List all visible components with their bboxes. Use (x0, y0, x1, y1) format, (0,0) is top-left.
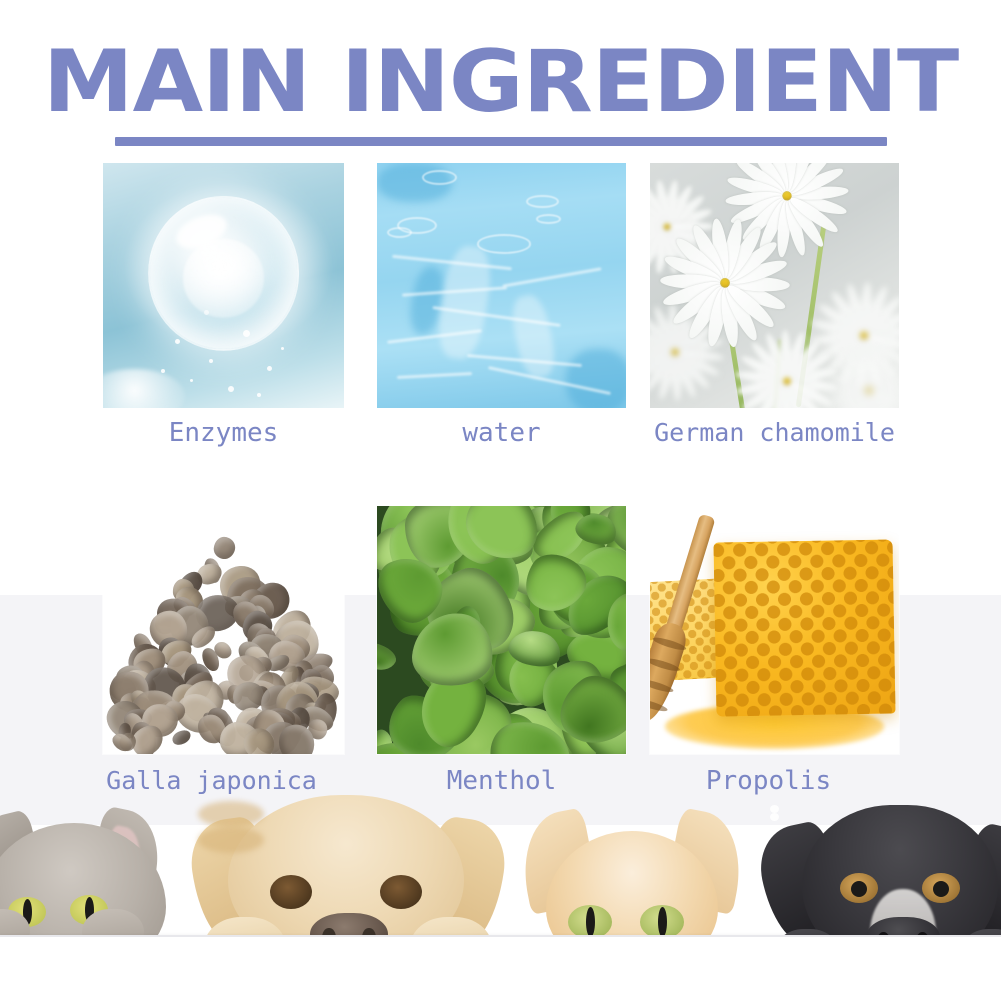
ingredient-card-menthol[interactable]: Menthol (377, 506, 626, 796)
ingredient-poster: MAIN INGREDIENT (0, 0, 1001, 1001)
ingredient-card-german-chamomile[interactable]: German chamomile (650, 163, 899, 448)
water-shadow (566, 349, 626, 408)
chamomile-flowers-art (650, 163, 899, 408)
ingredient-label-water: water (377, 418, 626, 448)
ripple-icon (477, 234, 532, 254)
daisy-icon (660, 227, 789, 325)
cat-pupil-left (586, 907, 595, 937)
ingredient-card-propolis[interactable]: Propolis (650, 506, 899, 796)
droplet-icon (175, 339, 180, 344)
water-surface-art (377, 163, 626, 408)
title-underline-rule (115, 137, 887, 146)
white-ledge (0, 935, 1001, 1001)
droplet-icon (257, 393, 261, 397)
wave-line (502, 267, 601, 287)
ingredient-card-galla-japonica[interactable]: Galla japonica (103, 506, 344, 796)
menthol-image (377, 506, 626, 754)
hex-cells (713, 539, 895, 716)
droplet-icon (209, 359, 213, 363)
dog-eye-glint-left (770, 805, 779, 813)
ingredient-grid: Enzymes (103, 163, 899, 796)
dipper-groove (650, 696, 669, 713)
ingredient-card-water[interactable]: water (377, 163, 626, 448)
galla-nuts-art (103, 506, 344, 754)
droplet-icon (281, 347, 284, 350)
gall-nut-piece (212, 535, 238, 562)
droplet-icon (243, 330, 250, 337)
dipper-groove (652, 635, 687, 652)
title-block: MAIN INGREDIENT (0, 42, 1001, 146)
honeycomb-art (650, 506, 899, 754)
enzyme-bubble-art (103, 163, 344, 408)
galla-japonica-image (103, 506, 344, 754)
ripple-icon (422, 170, 457, 185)
droplet-icon (228, 386, 234, 392)
nut-pile (113, 526, 335, 744)
ripple-icon (387, 227, 412, 238)
mint-leaf (377, 636, 400, 676)
bubble-core-icon (183, 239, 265, 317)
ingredient-card-enzymes[interactable]: Enzymes (103, 163, 344, 448)
enzymes-image (103, 163, 344, 408)
daisy-icon (735, 339, 840, 408)
dog-eye-left (270, 875, 312, 909)
honeycomb-main-slab (713, 539, 895, 716)
ingredient-row-1: Enzymes (103, 163, 899, 448)
dog-eye-glint-right (770, 813, 779, 821)
water-streak (508, 293, 559, 382)
dog-brow-left (198, 801, 264, 827)
wave-line (397, 372, 472, 379)
ripple-icon (526, 195, 558, 208)
foam-icon (103, 369, 185, 408)
daisy-icon (725, 163, 850, 232)
water-image (377, 163, 626, 408)
propolis-image (650, 506, 899, 754)
ingredient-row-2: Galla japonica Menthol (103, 506, 899, 796)
mint-leaves-art (377, 506, 626, 754)
droplet-icon (267, 366, 272, 371)
dog-brow-right (198, 827, 264, 853)
german-chamomile-image (650, 163, 899, 408)
droplet-icon (190, 379, 193, 382)
ingredient-label-german-chamomile: German chamomile (650, 418, 899, 447)
cat-pupil-right (658, 907, 667, 937)
ingredient-label-enzymes: Enzymes (103, 418, 344, 448)
dog-eye-right (380, 875, 422, 909)
dipper-groove (650, 656, 681, 673)
page-title: MAIN INGREDIENT (0, 42, 1001, 123)
dog-pupil-left (851, 881, 867, 897)
dog-pupil-right (933, 881, 949, 897)
dipper-groove (650, 677, 674, 694)
animal-strip (0, 779, 1001, 1001)
ripple-icon (536, 214, 561, 224)
